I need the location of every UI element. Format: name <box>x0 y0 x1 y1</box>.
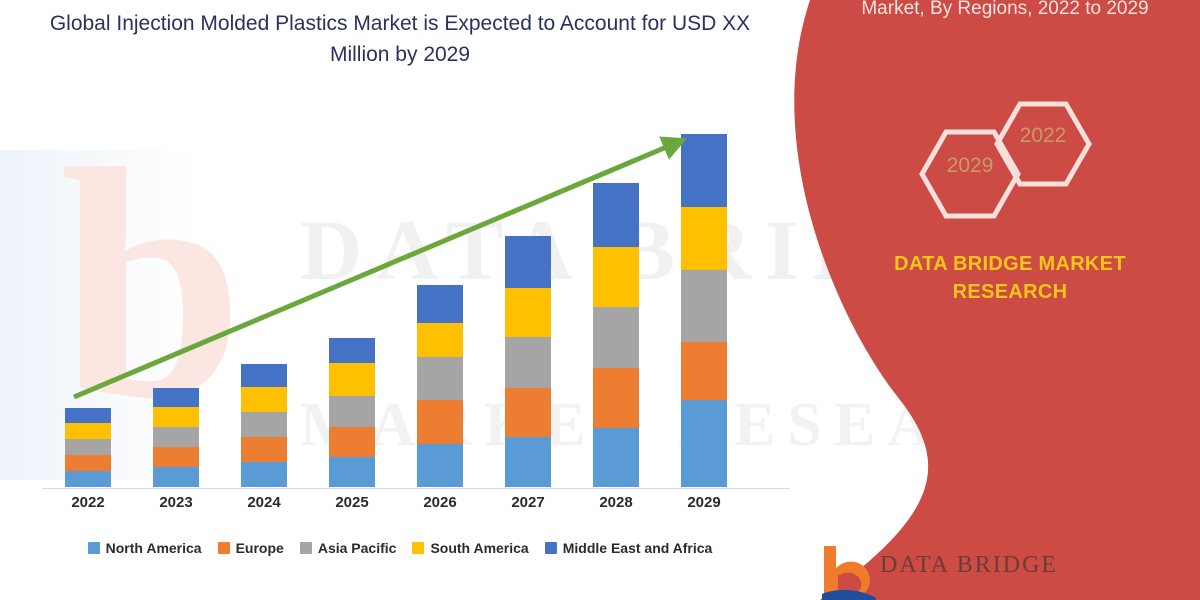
bar-2025 <box>329 338 375 487</box>
bar-segment-2023-asia-pacific <box>153 427 199 447</box>
x-tick-2023: 2023 <box>131 494 221 511</box>
bar-segment-2022-middle-east-and-africa <box>65 408 111 423</box>
legend-label: Asia Pacific <box>318 540 397 556</box>
brand-line-1: DATA BRIDGE MARKET <box>860 250 1160 278</box>
bar-segment-2028-asia-pacific <box>593 307 639 368</box>
bar-segment-2023-north-america <box>153 467 199 487</box>
bridge-logo-icon <box>818 542 878 600</box>
bar-segment-2024-europe <box>241 437 287 462</box>
x-tick-2026: 2026 <box>395 494 485 511</box>
x-axis-line <box>42 488 790 489</box>
legend-label: North America <box>106 540 202 556</box>
bar-2026 <box>417 285 463 487</box>
x-tick-2029: 2029 <box>659 494 749 511</box>
bar-2028 <box>593 183 639 487</box>
bar-segment-2029-south-america <box>681 207 727 270</box>
x-tick-2022: 2022 <box>43 494 133 511</box>
chart-area: Global Injection Molded Plastics Market … <box>0 0 800 600</box>
bar-segment-2028-middle-east-and-africa <box>593 183 639 247</box>
x-tick-2025: 2025 <box>307 494 397 511</box>
bar-segment-2022-south-america <box>65 423 111 439</box>
legend-label: Europe <box>236 540 284 556</box>
legend-item-europe[interactable]: Europe <box>218 540 284 556</box>
bar-segment-2025-europe <box>329 427 375 457</box>
bar-segment-2023-south-america <box>153 407 199 427</box>
bar-segment-2027-europe <box>505 388 551 437</box>
bar-segment-2029-north-america <box>681 400 727 487</box>
hexagon-2029-label: 2029 <box>922 154 1018 178</box>
bar-segment-2025-middle-east-and-africa <box>329 338 375 363</box>
brand-name: DATA BRIDGE MARKET RESEARCH <box>860 250 1160 306</box>
bar-segment-2025-south-america <box>329 363 375 396</box>
bar-segment-2025-asia-pacific <box>329 396 375 427</box>
bar-2022 <box>65 408 111 487</box>
brand-line-2: RESEARCH <box>860 278 1160 306</box>
legend-item-middle-east-and-africa[interactable]: Middle East and Africa <box>545 540 713 556</box>
bar-2023 <box>153 388 199 487</box>
bar-segment-2026-europe <box>417 400 463 444</box>
bar-segment-2024-south-america <box>241 387 287 412</box>
bar-segment-2023-europe <box>153 447 199 467</box>
bar-segment-2028-north-america <box>593 428 639 487</box>
bar-segment-2026-middle-east-and-africa <box>417 285 463 323</box>
bar-segment-2029-europe <box>681 342 727 400</box>
bar-segment-2028-south-america <box>593 247 639 307</box>
bar-segment-2027-asia-pacific <box>505 337 551 388</box>
legend-item-asia-pacific[interactable]: Asia Pacific <box>300 540 397 556</box>
bar-segment-2026-asia-pacific <box>417 357 463 400</box>
bar-segment-2023-middle-east-and-africa <box>153 388 199 407</box>
company-logo: DATA BRIDGE <box>818 542 1158 600</box>
legend-swatch-icon <box>545 542 557 554</box>
bar-segment-2022-north-america <box>65 471 111 487</box>
bar-2029 <box>681 134 727 487</box>
bar-segment-2027-north-america <box>505 437 551 487</box>
bar-segment-2022-europe <box>65 455 111 471</box>
bar-2024 <box>241 364 287 487</box>
brand-panel: Market, By Regions, 2022 to 2029 2022 20… <box>780 0 1200 600</box>
hexagon-2022-label: 2022 <box>997 124 1089 148</box>
bar-segment-2025-north-america <box>329 457 375 487</box>
bar-segment-2029-asia-pacific <box>681 270 727 342</box>
legend-swatch-icon <box>300 542 312 554</box>
bar-segment-2024-middle-east-and-africa <box>241 364 287 387</box>
bar-segment-2027-south-america <box>505 288 551 337</box>
x-tick-2028: 2028 <box>571 494 661 511</box>
bar-segment-2026-north-america <box>417 444 463 487</box>
legend-item-north-america[interactable]: North America <box>88 540 202 556</box>
x-tick-2024: 2024 <box>219 494 309 511</box>
bar-segment-2027-middle-east-and-africa <box>505 236 551 288</box>
infographic-root: b DATA BRIDGE MARKET RESEARCH Global Inj… <box>0 0 1200 600</box>
legend-label: Middle East and Africa <box>563 540 713 556</box>
bar-segment-2024-asia-pacific <box>241 412 287 437</box>
x-tick-2027: 2027 <box>483 494 573 511</box>
company-logo-text: DATA BRIDGE <box>880 552 1058 579</box>
hexagon-badges: 2022 2029 <box>898 92 1128 242</box>
bar-segment-2029-middle-east-and-africa <box>681 134 727 207</box>
legend-swatch-icon <box>218 542 230 554</box>
page-title: Global Injection Molded Plastics Market … <box>20 8 780 70</box>
bar-segment-2022-asia-pacific <box>65 439 111 455</box>
panel-title: Market, By Regions, 2022 to 2029 <box>780 0 1200 22</box>
bar-segment-2028-europe <box>593 368 639 428</box>
bar-segment-2026-south-america <box>417 323 463 357</box>
legend-item-south-america[interactable]: South America <box>412 540 528 556</box>
chart-legend: North AmericaEuropeAsia PacificSouth Ame… <box>0 540 800 556</box>
legend-swatch-icon <box>88 542 100 554</box>
legend-swatch-icon <box>412 542 424 554</box>
legend-label: South America <box>430 540 528 556</box>
bar-segment-2024-north-america <box>241 462 287 487</box>
bar-2027 <box>505 236 551 487</box>
